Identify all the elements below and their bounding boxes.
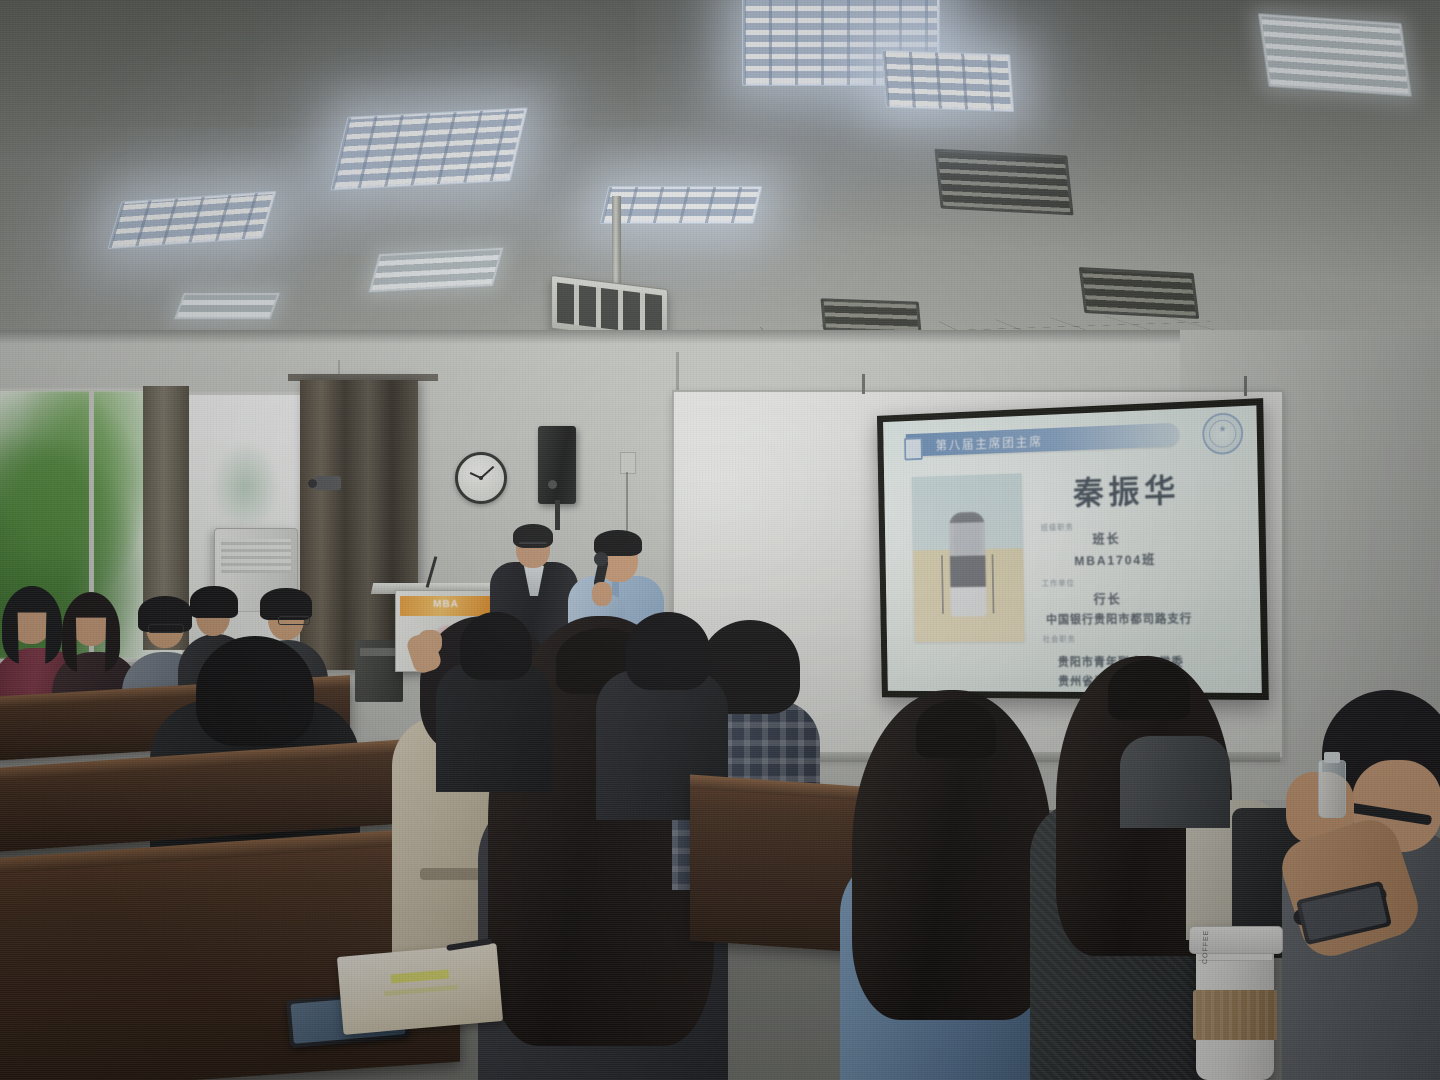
slide-field-value: MBA1704班 xyxy=(1074,549,1156,569)
cup-brand-text: COFFEE xyxy=(1202,930,1210,965)
slide-header-icon xyxy=(904,437,923,460)
hand xyxy=(592,582,612,606)
slide-field-label: 社会职务 xyxy=(1043,634,1076,645)
microphone-head xyxy=(594,552,608,566)
presentation-slide: 第八届主席团主席 ★ 秦振华 班级职务 班长 MBA1704班 工作单位 行长 … xyxy=(883,405,1262,693)
slide-header-text: 第八届主席团主席 xyxy=(935,431,1043,453)
screen-hook xyxy=(862,374,865,394)
highlighter-mark xyxy=(384,985,458,996)
eyeglasses-icon xyxy=(278,616,310,625)
ceiling-light-fixture-off xyxy=(1079,267,1200,319)
slide-field-label: 工作单位 xyxy=(1042,578,1075,589)
highlighter-mark xyxy=(391,969,450,983)
wall-clock xyxy=(455,452,507,504)
slide-portrait-photo xyxy=(912,473,1025,642)
ceiling-light-fixture xyxy=(173,292,281,320)
water-bottle[interactable] xyxy=(1318,760,1346,818)
ceiling-light-fixture xyxy=(330,107,528,190)
podium-banner-text: MBA xyxy=(433,599,459,610)
wall-outlet xyxy=(620,452,636,474)
security-camera xyxy=(315,476,341,490)
eyeglasses-icon xyxy=(148,624,184,633)
projector-mount-pole xyxy=(612,196,621,291)
slide-field-value: 行长 xyxy=(1093,589,1121,608)
slide-field-label: 班级职务 xyxy=(1041,522,1074,533)
ceiling-light-fixture xyxy=(368,247,505,293)
ceiling-light-fixture xyxy=(882,50,1014,112)
slide-field-value: 班长 xyxy=(1092,528,1120,547)
cup-sleeve xyxy=(1193,990,1277,1040)
screen-hook xyxy=(1244,376,1247,396)
takeaway-coffee-cup[interactable]: COFFEE xyxy=(1196,928,1274,1080)
ceiling-light-fixture xyxy=(1258,13,1412,97)
ceiling-light-fixture xyxy=(600,186,763,224)
wall-speaker xyxy=(538,426,576,504)
slide-person-name: 秦振华 xyxy=(1073,464,1181,514)
audience-member xyxy=(1120,736,1230,828)
speaker-bracket xyxy=(555,500,560,530)
slide-field-value: 中国银行贵阳市都司路支行 xyxy=(1046,610,1192,628)
podium-banner: MBA xyxy=(400,596,492,616)
eyeglasses-icon xyxy=(519,542,547,551)
ceiling-light-fixture-off xyxy=(820,298,921,333)
ceiling-light-fixture-off xyxy=(934,149,1073,216)
classroom-photo: 第八届主席团主席 ★ 秦振华 班级职务 班长 MBA1704班 工作单位 行长 … xyxy=(0,0,1440,1080)
notebook-with-highlighter[interactable] xyxy=(337,943,503,1035)
projection-screen: 第八届主席团主席 ★ 秦振华 班级职务 班长 MBA1704班 工作单位 行长 … xyxy=(877,398,1269,700)
ac-grille xyxy=(221,539,291,573)
